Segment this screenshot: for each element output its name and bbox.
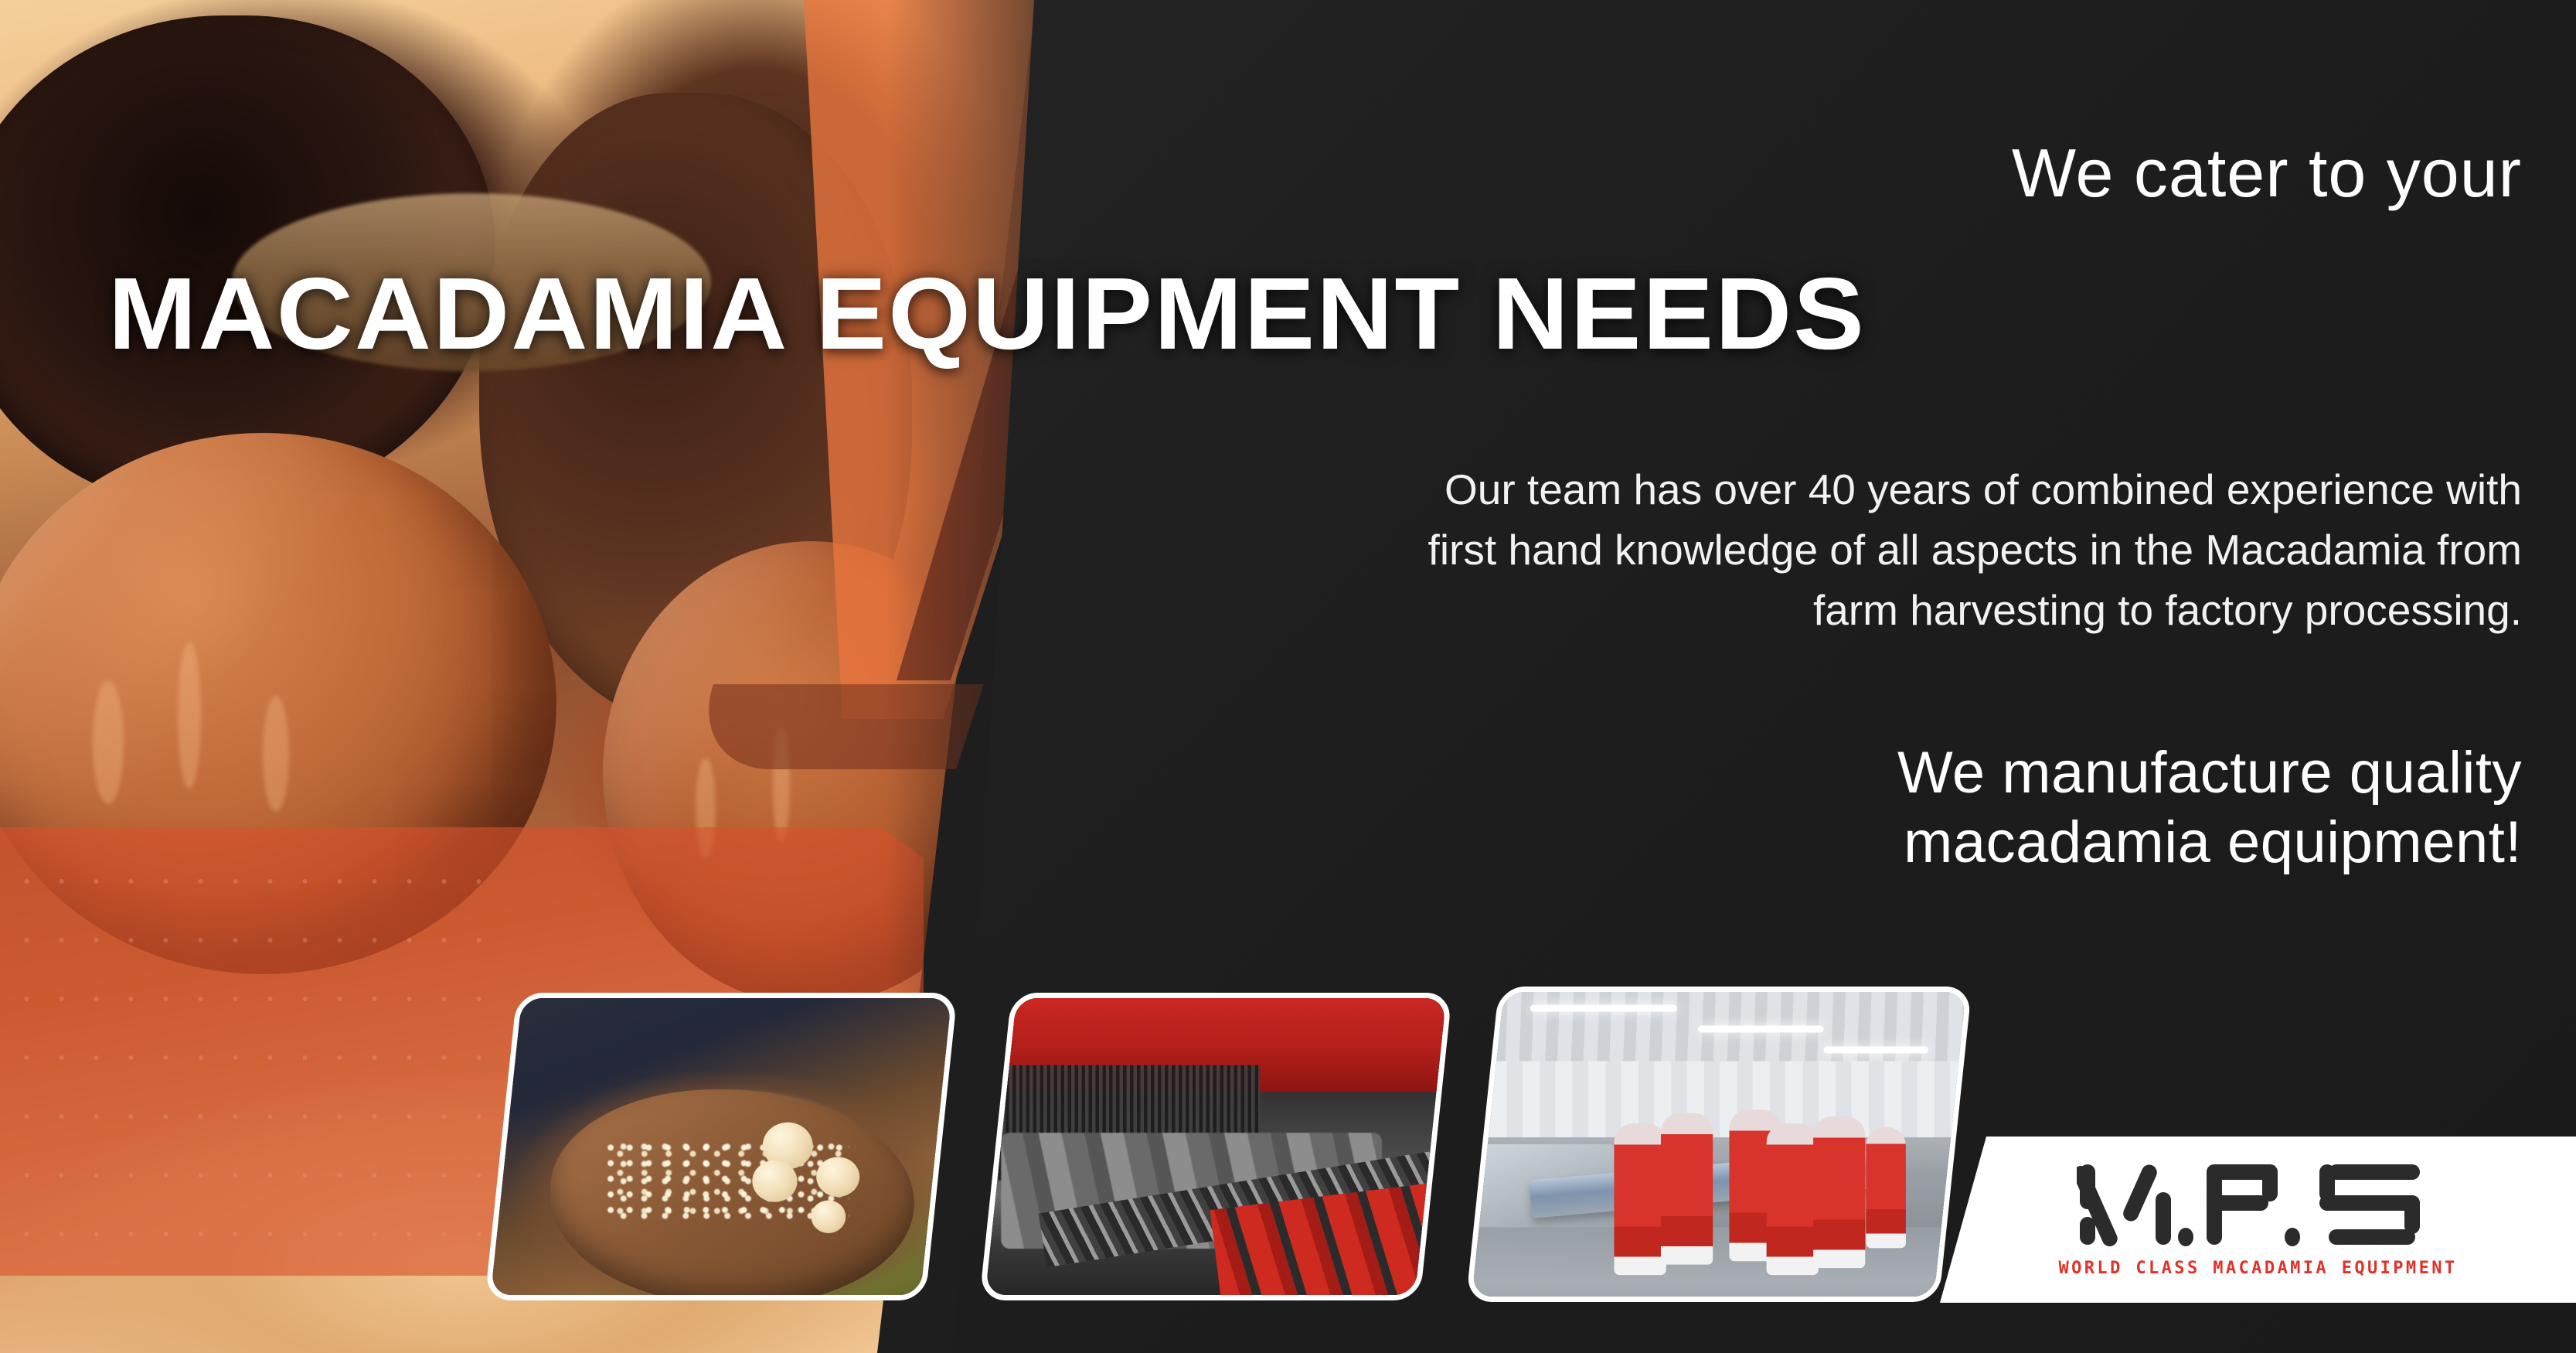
nut-highlight-streak	[263, 696, 289, 812]
ceiling-light	[1698, 1026, 1824, 1033]
eyebrow-text: We cater to your	[1285, 138, 2522, 209]
body-line-1: Our team has over 40 years of combined e…	[1223, 459, 2522, 520]
nut-highlight-streak	[93, 680, 124, 804]
thumbnail-factory-workers[interactable]	[1466, 987, 1972, 1302]
factory-worker	[1866, 1126, 1906, 1248]
logo-tagline: WORLD CLASS MACADAMIA EQUIPMENT	[2059, 1259, 2458, 1278]
thumbnail-red-machinery[interactable]	[979, 993, 1452, 1300]
ceiling-light	[1530, 1005, 1677, 1012]
subhead-line-1: We manufacture quality	[1285, 738, 2522, 808]
macadamia-nut-small	[603, 541, 1020, 1005]
nut-highlight-streak	[696, 758, 716, 858]
thumbnail-image	[979, 993, 1452, 1300]
marketing-banner: We cater to your MACADAMIA EQUIPMENT NEE…	[0, 0, 2576, 1353]
thumbnail-hand-with-nuts[interactable]	[485, 993, 958, 1300]
nut-highlight-streak	[773, 727, 790, 843]
ceiling-light	[1824, 1047, 1929, 1054]
factory-worker	[1766, 1123, 1818, 1275]
mps-logo-icon	[2077, 1161, 2440, 1248]
subheadline: We manufacture quality macadamia equipme…	[1285, 738, 2522, 877]
nut-highlight-streak	[178, 642, 201, 789]
thumbnail-image	[1466, 987, 1972, 1302]
nut-kernel	[816, 1157, 859, 1197]
factory-worker	[1614, 1123, 1666, 1275]
subhead-line-2: macadamia equipment!	[1285, 808, 2522, 878]
body-line-2: first hand knowledge of all aspects in t…	[1223, 520, 2522, 580]
thumbnail-image	[485, 993, 958, 1300]
factory-worker	[1813, 1116, 1865, 1268]
factory-worker	[1661, 1113, 1713, 1264]
page-title: MACADAMIA EQUIPMENT NEEDS	[108, 263, 2567, 365]
body-copy: Our team has over 40 years of combined e…	[1223, 459, 2522, 640]
logo-panel[interactable]: WORLD CLASS MACADAMIA EQUIPMENT	[1940, 1137, 2576, 1303]
nut-kernel	[811, 1200, 846, 1233]
factory-wall	[1466, 1061, 1972, 1137]
nut-kernel	[752, 1160, 797, 1202]
body-line-3: farm harvesting to factory processing.	[1223, 580, 2522, 640]
